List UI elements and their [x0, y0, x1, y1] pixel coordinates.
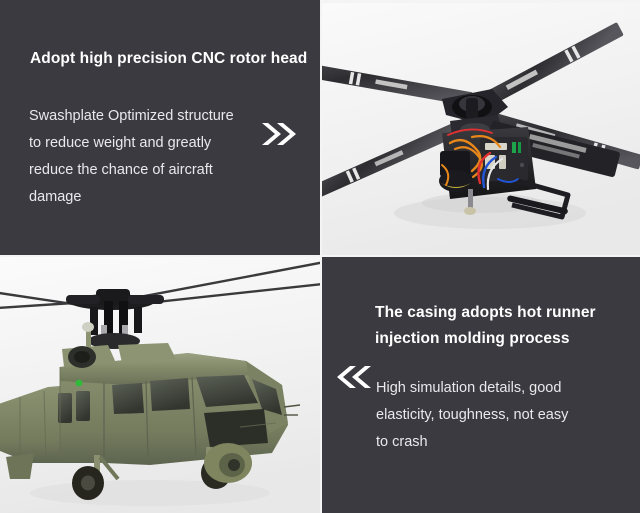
top-left-body: Swashplate Optimized structure to reduce… — [29, 103, 234, 211]
chevron-double-left-icon — [334, 363, 374, 391]
panel-bottom-left-photo: FJC 2146 — [0, 257, 320, 513]
top-left-body-line-3: reduce the chance of aircraft — [29, 157, 234, 184]
panel-top-left-text: Adopt high precision CNC rotor head Swas… — [0, 0, 320, 255]
top-left-body-line-1: Swashplate Optimized structure — [29, 103, 234, 130]
helicopter-photo — [0, 257, 320, 513]
top-left-headline: Adopt high precision CNC rotor head — [30, 50, 307, 68]
product-feature-collage: Adopt high precision CNC rotor head Swas… — [0, 0, 640, 513]
bottom-right-headline-line-1: The casing adopts hot runner — [375, 300, 596, 326]
bottom-right-headline: The casing adopts hot runner injection m… — [375, 300, 596, 352]
bottom-right-body-line-2: elasticity, toughness, not easy — [376, 402, 568, 429]
chevron-double-right-icon — [259, 120, 299, 148]
panel-bottom-right-text: The casing adopts hot runner injection m… — [322, 257, 640, 513]
bottom-right-body-line-1: High simulation details, good — [376, 375, 568, 402]
bottom-right-headline-line-2: injection molding process — [375, 326, 596, 352]
top-left-body-line-2: to reduce weight and greatly — [29, 130, 234, 157]
top-left-body-line-4: damage — [29, 184, 234, 211]
panel-top-right-photo — [322, 3, 640, 255]
rotor-head-photo — [322, 3, 640, 255]
bottom-right-body: High simulation details, good elasticity… — [376, 375, 568, 456]
bottom-right-body-line-3: to crash — [376, 429, 568, 456]
